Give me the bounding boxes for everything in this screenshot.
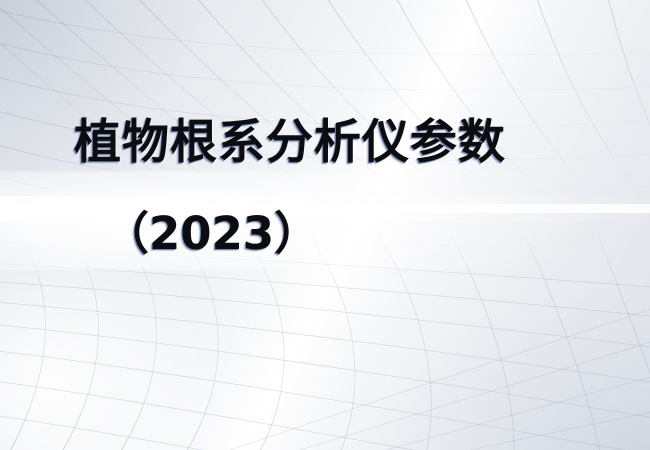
title-block: 植物根系分析仪参数 （2023） bbox=[0, 112, 650, 260]
page-title: 植物根系分析仪参数 bbox=[0, 112, 650, 174]
title-year-subtitle: （2023） bbox=[0, 174, 650, 260]
title-slide: 植物根系分析仪参数 （2023） bbox=[0, 0, 650, 450]
